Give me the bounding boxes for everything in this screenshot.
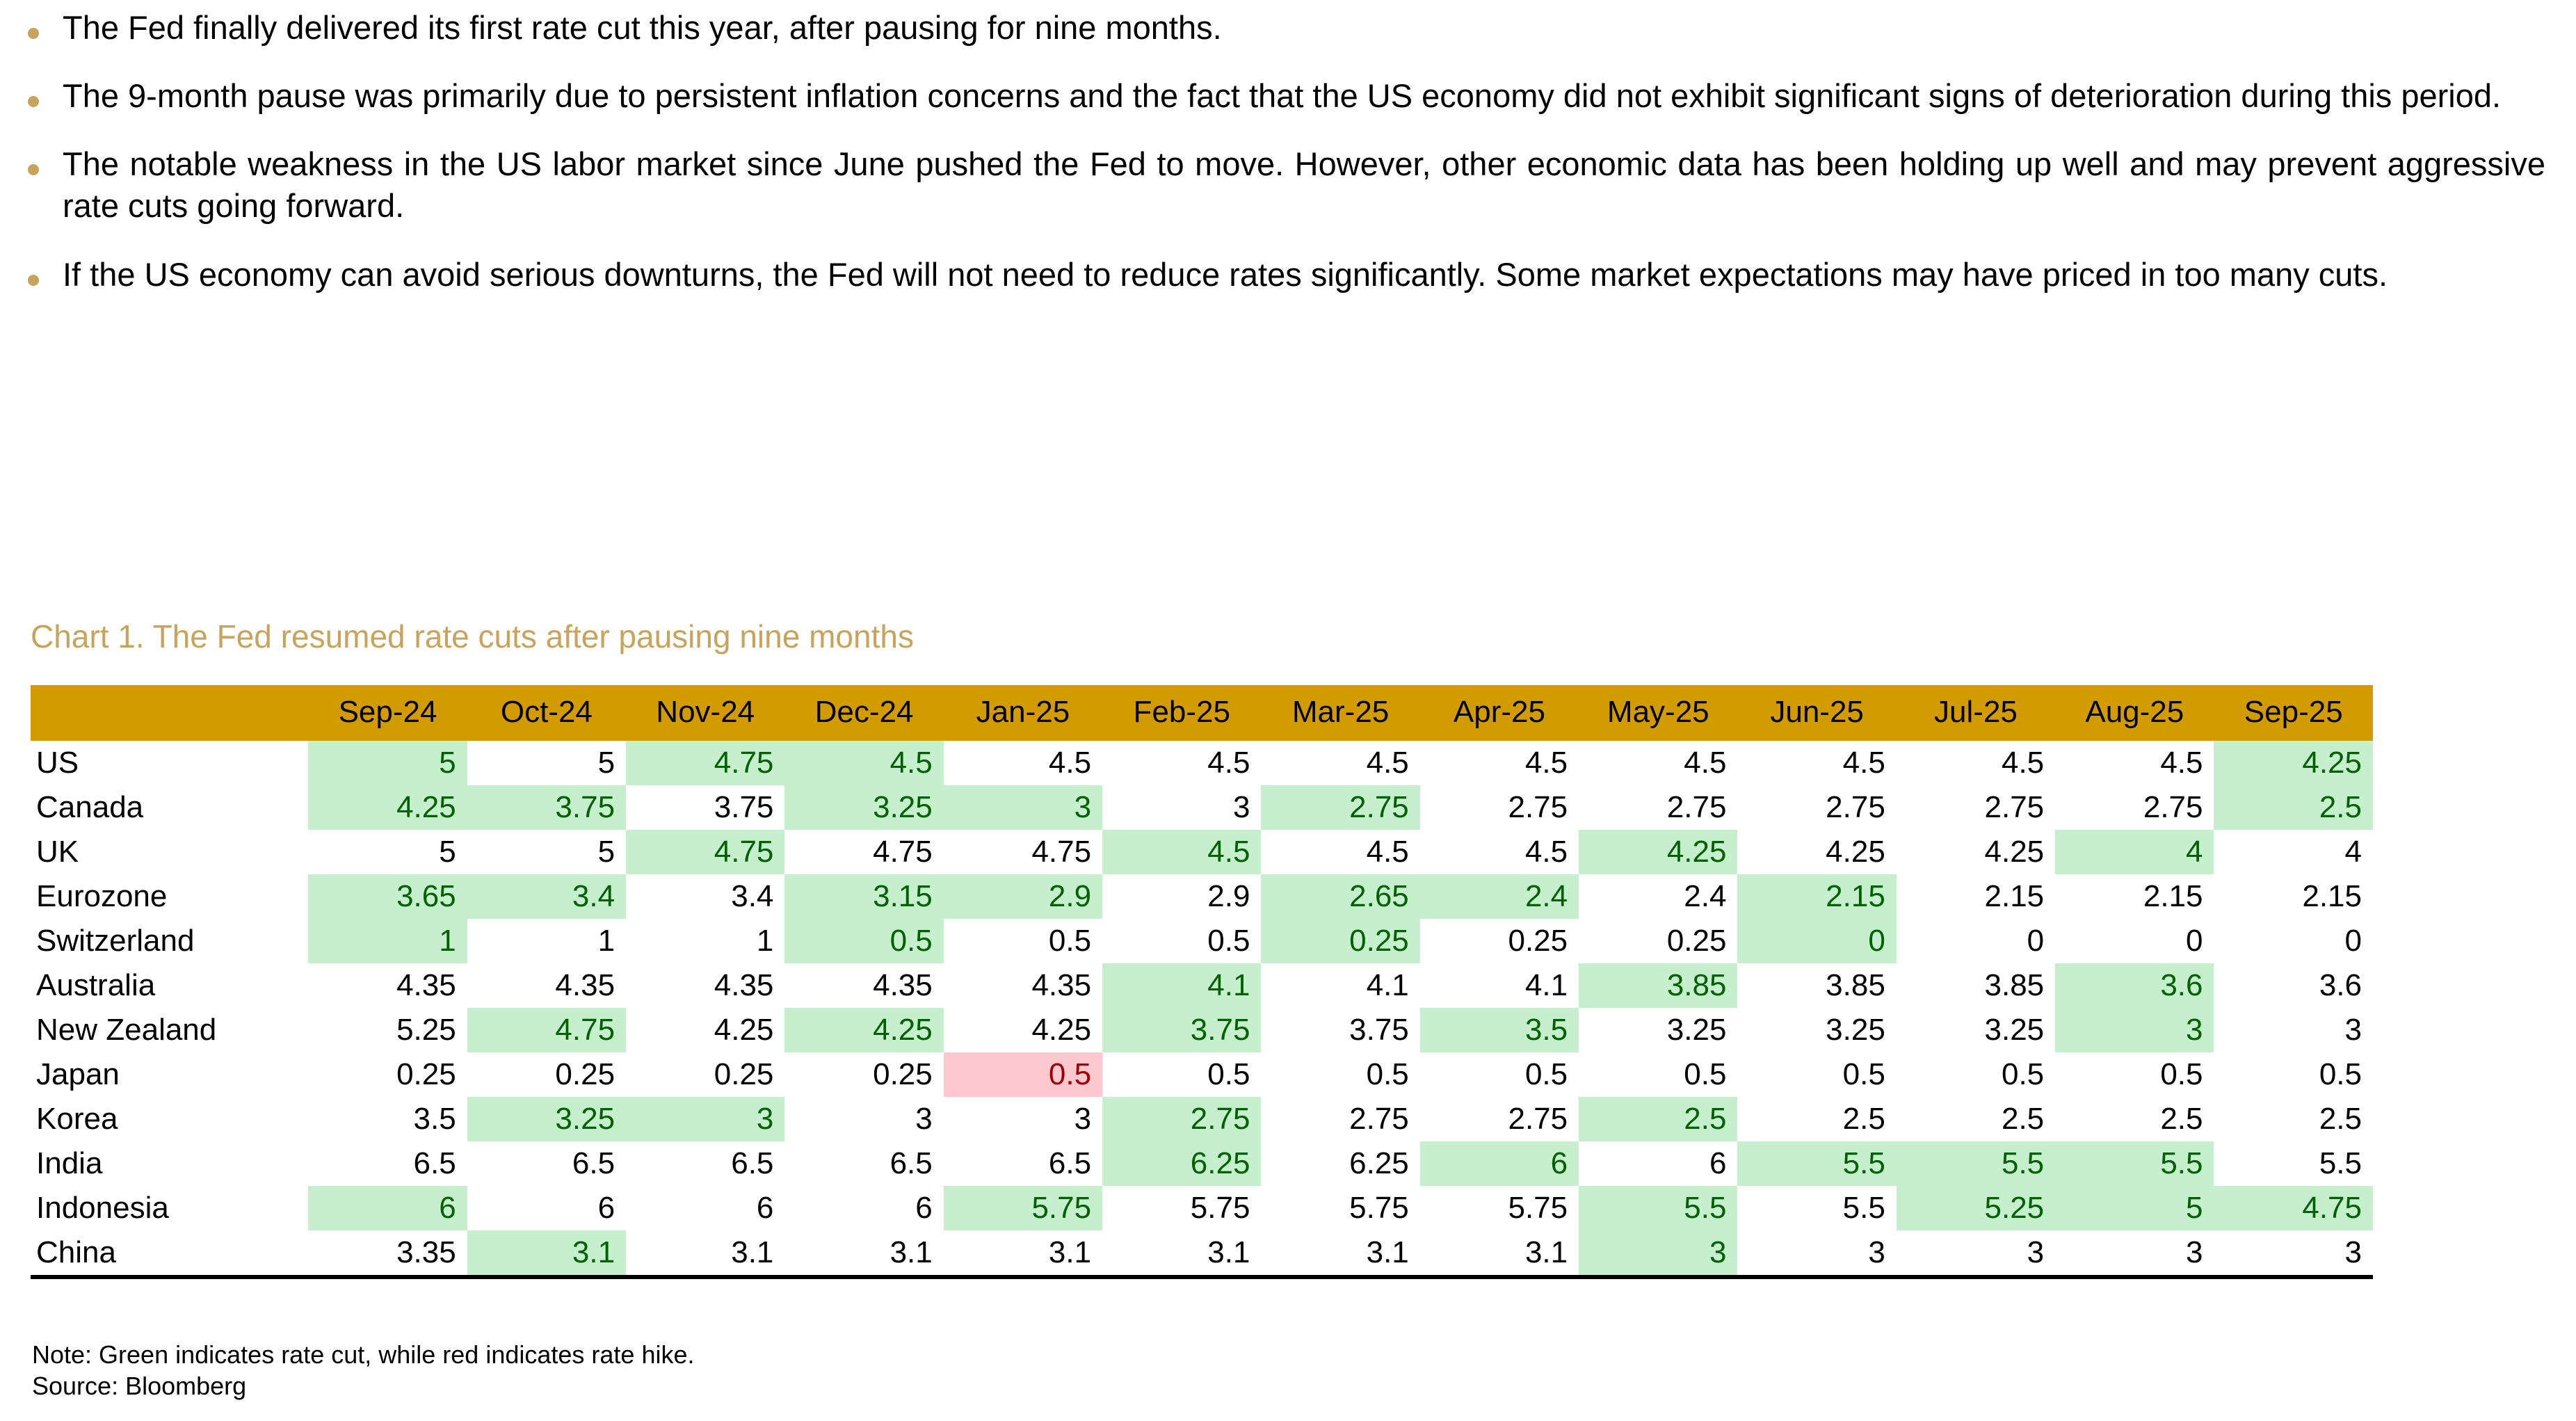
bullet-text-3: The notable weakness in the US labor mar… xyxy=(63,143,2545,227)
table-row: Korea3.53.253332.752.752.752.52.52.52.52… xyxy=(31,1097,2373,1141)
cell-eurozone-sep-25: 2.15 xyxy=(2214,874,2373,919)
cell-australia-sep-25: 3.6 xyxy=(2214,963,2373,1008)
row-label-indonesia: Indonesia xyxy=(31,1186,308,1230)
cell-us-may-25: 4.5 xyxy=(1579,741,1737,785)
cell-canada-may-25: 2.75 xyxy=(1579,785,1737,830)
cell-japan-nov-24: 0.25 xyxy=(626,1052,784,1097)
bullet-text-4: If the US economy can avoid serious down… xyxy=(63,254,2545,296)
cell-eurozone-jul-25: 2.15 xyxy=(1897,874,2055,919)
cell-canada-jun-25: 2.75 xyxy=(1737,785,1896,830)
cell-china-apr-25: 3.1 xyxy=(1420,1230,1579,1277)
column-header-row-label xyxy=(31,685,308,741)
cell-switzerland-jun-25: 0 xyxy=(1737,919,1896,963)
table-row: India6.56.56.56.56.56.256.25665.55.55.55… xyxy=(31,1141,2373,1186)
bullet-dot-icon xyxy=(28,28,39,39)
column-header-oct-24: Oct-24 xyxy=(467,685,626,741)
cell-canada-feb-25: 3 xyxy=(1102,785,1261,830)
cell-new-zealand-sep-24: 5.25 xyxy=(308,1008,467,1052)
cell-us-oct-24: 5 xyxy=(467,741,626,785)
footnotes: Note: Green indicates rate cut, while re… xyxy=(32,1339,695,1402)
cell-us-apr-25: 4.5 xyxy=(1420,741,1579,785)
cell-india-sep-25: 5.5 xyxy=(2214,1141,2373,1186)
row-label-china: China xyxy=(31,1230,308,1277)
cell-switzerland-feb-25: 0.5 xyxy=(1102,919,1261,963)
table-row: US554.754.54.54.54.54.54.54.54.54.54.25 xyxy=(31,741,2373,785)
cell-australia-feb-25: 4.1 xyxy=(1102,963,1261,1008)
cell-indonesia-jul-25: 5.25 xyxy=(1897,1186,2055,1230)
cell-new-zealand-jul-25: 3.25 xyxy=(1897,1008,2055,1052)
cell-new-zealand-jan-25: 4.25 xyxy=(944,1008,1102,1052)
cell-uk-sep-24: 5 xyxy=(308,830,467,874)
cell-japan-dec-24: 0.25 xyxy=(784,1052,943,1097)
cell-new-zealand-sep-25: 3 xyxy=(2214,1008,2373,1052)
column-header-jul-25: Jul-25 xyxy=(1897,685,2055,741)
cell-japan-may-25: 0.5 xyxy=(1579,1052,1737,1097)
cell-india-jan-25: 6.5 xyxy=(944,1141,1102,1186)
bullet-list: The Fed finally delivered its first rate… xyxy=(28,7,2545,322)
cell-china-may-25: 3 xyxy=(1579,1230,1737,1277)
row-label-japan: Japan xyxy=(31,1052,308,1097)
cell-indonesia-jun-25: 5.5 xyxy=(1737,1186,1896,1230)
row-label-uk: UK xyxy=(31,830,308,874)
table-row: Australia4.354.354.354.354.354.14.14.13.… xyxy=(31,963,2373,1008)
cell-korea-jun-25: 2.5 xyxy=(1737,1097,1896,1141)
cell-us-jul-25: 4.5 xyxy=(1897,741,2055,785)
cell-indonesia-feb-25: 5.75 xyxy=(1102,1186,1261,1230)
column-header-dec-24: Dec-24 xyxy=(784,685,943,741)
column-header-apr-25: Apr-25 xyxy=(1420,685,1579,741)
cell-uk-oct-24: 5 xyxy=(467,830,626,874)
cell-new-zealand-mar-25: 3.75 xyxy=(1261,1008,1419,1052)
cell-eurozone-feb-25: 2.9 xyxy=(1102,874,1261,919)
cell-new-zealand-nov-24: 4.25 xyxy=(626,1008,784,1052)
cell-japan-sep-25: 0.5 xyxy=(2214,1052,2373,1097)
cell-india-jun-25: 5.5 xyxy=(1737,1141,1896,1186)
cell-switzerland-nov-24: 1 xyxy=(626,919,784,963)
cell-eurozone-oct-24: 3.4 xyxy=(467,874,626,919)
cell-eurozone-nov-24: 3.4 xyxy=(626,874,784,919)
table-row: Indonesia66665.755.755.755.755.55.55.255… xyxy=(31,1186,2373,1230)
cell-japan-aug-25: 0.5 xyxy=(2055,1052,2214,1097)
table-row: Canada4.253.753.753.25332.752.752.752.75… xyxy=(31,785,2373,830)
row-label-korea: Korea xyxy=(31,1097,308,1141)
cell-us-dec-24: 4.5 xyxy=(784,741,943,785)
cell-korea-jan-25: 3 xyxy=(944,1097,1102,1141)
row-label-switzerland: Switzerland xyxy=(31,919,308,963)
column-header-aug-25: Aug-25 xyxy=(2055,685,2214,741)
cell-switzerland-jul-25: 0 xyxy=(1897,919,2055,963)
cell-eurozone-mar-25: 2.65 xyxy=(1261,874,1419,919)
cell-us-mar-25: 4.5 xyxy=(1261,741,1419,785)
cell-canada-apr-25: 2.75 xyxy=(1420,785,1579,830)
bullet-dot-icon xyxy=(28,96,39,107)
cell-eurozone-apr-25: 2.4 xyxy=(1420,874,1579,919)
bullet-dot-icon xyxy=(28,164,39,175)
row-label-canada: Canada xyxy=(31,785,308,830)
bullet-item: The 9-month pause was primarily due to p… xyxy=(28,75,2545,117)
cell-australia-aug-25: 3.6 xyxy=(2055,963,2214,1008)
cell-us-sep-24: 5 xyxy=(308,741,467,785)
bullet-item: The Fed finally delivered its first rate… xyxy=(28,7,2545,49)
column-header-sep-24: Sep-24 xyxy=(308,685,467,741)
rates-table: Sep-24Oct-24Nov-24Dec-24Jan-25Feb-25Mar-… xyxy=(31,685,2373,1279)
cell-switzerland-may-25: 0.25 xyxy=(1579,919,1737,963)
cell-new-zealand-oct-24: 4.75 xyxy=(467,1008,626,1052)
table-body: US554.754.54.54.54.54.54.54.54.54.54.25C… xyxy=(31,741,2373,1277)
cell-australia-jul-25: 3.85 xyxy=(1897,963,2055,1008)
cell-japan-apr-25: 0.5 xyxy=(1420,1052,1579,1097)
cell-japan-mar-25: 0.5 xyxy=(1261,1052,1419,1097)
cell-india-apr-25: 6 xyxy=(1420,1141,1579,1186)
cell-canada-sep-24: 4.25 xyxy=(308,785,467,830)
cell-indonesia-nov-24: 6 xyxy=(626,1186,784,1230)
column-header-nov-24: Nov-24 xyxy=(626,685,784,741)
cell-korea-nov-24: 3 xyxy=(626,1097,784,1141)
note-text: Note: Green indicates rate cut, while re… xyxy=(32,1339,695,1370)
cell-china-feb-25: 3.1 xyxy=(1102,1230,1261,1277)
table-row: China3.353.13.13.13.13.13.13.133333 xyxy=(31,1230,2373,1277)
cell-korea-sep-25: 2.5 xyxy=(2214,1097,2373,1141)
cell-uk-dec-24: 4.75 xyxy=(784,830,943,874)
cell-canada-jul-25: 2.75 xyxy=(1897,785,2055,830)
cell-australia-dec-24: 4.35 xyxy=(784,963,943,1008)
cell-china-nov-24: 3.1 xyxy=(626,1230,784,1277)
bullet-text-2: The 9-month pause was primarily due to p… xyxy=(63,75,2545,117)
cell-canada-oct-24: 3.75 xyxy=(467,785,626,830)
cell-switzerland-apr-25: 0.25 xyxy=(1420,919,1579,963)
cell-india-sep-24: 6.5 xyxy=(308,1141,467,1186)
table-row: New Zealand5.254.754.254.254.253.753.753… xyxy=(31,1008,2373,1052)
cell-new-zealand-dec-24: 4.25 xyxy=(784,1008,943,1052)
cell-uk-may-25: 4.25 xyxy=(1579,830,1737,874)
cell-korea-mar-25: 2.75 xyxy=(1261,1097,1419,1141)
cell-australia-nov-24: 4.35 xyxy=(626,963,784,1008)
cell-korea-aug-25: 2.5 xyxy=(2055,1097,2214,1141)
cell-japan-jun-25: 0.5 xyxy=(1737,1052,1896,1097)
cell-indonesia-oct-24: 6 xyxy=(467,1186,626,1230)
cell-uk-sep-25: 4 xyxy=(2214,830,2373,874)
cell-australia-sep-24: 4.35 xyxy=(308,963,467,1008)
cell-india-nov-24: 6.5 xyxy=(626,1141,784,1186)
cell-australia-mar-25: 4.1 xyxy=(1261,963,1419,1008)
cell-japan-oct-24: 0.25 xyxy=(467,1052,626,1097)
cell-japan-jul-25: 0.5 xyxy=(1897,1052,2055,1097)
cell-canada-aug-25: 2.75 xyxy=(2055,785,2214,830)
cell-japan-sep-24: 0.25 xyxy=(308,1052,467,1097)
cell-china-jan-25: 3.1 xyxy=(944,1230,1102,1277)
column-header-jan-25: Jan-25 xyxy=(944,685,1102,741)
cell-korea-apr-25: 2.75 xyxy=(1420,1097,1579,1141)
cell-india-oct-24: 6.5 xyxy=(467,1141,626,1186)
cell-new-zealand-may-25: 3.25 xyxy=(1579,1008,1737,1052)
column-header-feb-25: Feb-25 xyxy=(1102,685,1261,741)
cell-indonesia-aug-25: 5 xyxy=(2055,1186,2214,1230)
cell-uk-jan-25: 4.75 xyxy=(944,830,1102,874)
cell-india-aug-25: 5.5 xyxy=(2055,1141,2214,1186)
source-text: Source: Bloomberg xyxy=(32,1370,695,1402)
cell-uk-mar-25: 4.5 xyxy=(1261,830,1419,874)
row-label-eurozone: Eurozone xyxy=(31,874,308,919)
cell-eurozone-aug-25: 2.15 xyxy=(2055,874,2214,919)
cell-eurozone-jan-25: 2.9 xyxy=(944,874,1102,919)
cell-new-zealand-aug-25: 3 xyxy=(2055,1008,2214,1052)
cell-korea-may-25: 2.5 xyxy=(1579,1097,1737,1141)
cell-australia-apr-25: 4.1 xyxy=(1420,963,1579,1008)
cell-canada-sep-25: 2.5 xyxy=(2214,785,2373,830)
cell-indonesia-sep-25: 4.75 xyxy=(2214,1186,2373,1230)
cell-australia-jun-25: 3.85 xyxy=(1737,963,1896,1008)
cell-switzerland-oct-24: 1 xyxy=(467,919,626,963)
table-row: Japan0.250.250.250.250.50.50.50.50.50.50… xyxy=(31,1052,2373,1097)
cell-canada-dec-24: 3.25 xyxy=(784,785,943,830)
row-label-new-zealand: New Zealand xyxy=(31,1008,308,1052)
slide-page: The Fed finally delivered its first rate… xyxy=(0,0,2576,1421)
cell-new-zealand-apr-25: 3.5 xyxy=(1420,1008,1579,1052)
cell-uk-nov-24: 4.75 xyxy=(626,830,784,874)
rates-table-container: Sep-24Oct-24Nov-24Dec-24Jan-25Feb-25Mar-… xyxy=(31,685,2373,1279)
cell-uk-apr-25: 4.5 xyxy=(1420,830,1579,874)
cell-eurozone-jun-25: 2.15 xyxy=(1737,874,1896,919)
cell-china-aug-25: 3 xyxy=(2055,1230,2214,1277)
cell-us-jan-25: 4.5 xyxy=(944,741,1102,785)
cell-korea-oct-24: 3.25 xyxy=(467,1097,626,1141)
cell-indonesia-may-25: 5.5 xyxy=(1579,1186,1737,1230)
cell-china-sep-24: 3.35 xyxy=(308,1230,467,1277)
cell-uk-jun-25: 4.25 xyxy=(1737,830,1896,874)
cell-indonesia-apr-25: 5.75 xyxy=(1420,1186,1579,1230)
table-header: Sep-24Oct-24Nov-24Dec-24Jan-25Feb-25Mar-… xyxy=(31,685,2373,741)
row-label-us: US xyxy=(31,741,308,785)
row-label-india: India xyxy=(31,1141,308,1186)
cell-australia-jan-25: 4.35 xyxy=(944,963,1102,1008)
cell-us-nov-24: 4.75 xyxy=(626,741,784,785)
chart-title: Chart 1. The Fed resumed rate cuts after… xyxy=(31,618,914,655)
cell-switzerland-aug-25: 0 xyxy=(2055,919,2214,963)
column-header-may-25: May-25 xyxy=(1579,685,1737,741)
bullet-text-1: The Fed finally delivered its first rate… xyxy=(63,7,2545,49)
cell-switzerland-jan-25: 0.5 xyxy=(944,919,1102,963)
table-header-row: Sep-24Oct-24Nov-24Dec-24Jan-25Feb-25Mar-… xyxy=(31,685,2373,741)
cell-korea-feb-25: 2.75 xyxy=(1102,1097,1261,1141)
cell-japan-jan-25: 0.5 xyxy=(944,1052,1102,1097)
table-row: Eurozone3.653.43.43.152.92.92.652.42.42.… xyxy=(31,874,2373,919)
row-label-australia: Australia xyxy=(31,963,308,1008)
cell-eurozone-sep-24: 3.65 xyxy=(308,874,467,919)
cell-india-mar-25: 6.25 xyxy=(1261,1141,1419,1186)
column-header-mar-25: Mar-25 xyxy=(1261,685,1419,741)
cell-china-jul-25: 3 xyxy=(1897,1230,2055,1277)
cell-china-oct-24: 3.1 xyxy=(467,1230,626,1277)
cell-india-feb-25: 6.25 xyxy=(1102,1141,1261,1186)
bullet-item: The notable weakness in the US labor mar… xyxy=(28,143,2545,227)
cell-indonesia-sep-24: 6 xyxy=(308,1186,467,1230)
cell-canada-jan-25: 3 xyxy=(944,785,1102,830)
bullet-dot-icon xyxy=(28,275,39,286)
cell-eurozone-dec-24: 3.15 xyxy=(784,874,943,919)
column-header-jun-25: Jun-25 xyxy=(1737,685,1896,741)
cell-indonesia-dec-24: 6 xyxy=(784,1186,943,1230)
cell-us-feb-25: 4.5 xyxy=(1102,741,1261,785)
cell-korea-dec-24: 3 xyxy=(784,1097,943,1141)
cell-switzerland-mar-25: 0.25 xyxy=(1261,919,1419,963)
cell-us-jun-25: 4.5 xyxy=(1737,741,1896,785)
cell-indonesia-jan-25: 5.75 xyxy=(944,1186,1102,1230)
cell-indonesia-mar-25: 5.75 xyxy=(1261,1186,1419,1230)
cell-canada-mar-25: 2.75 xyxy=(1261,785,1419,830)
cell-korea-sep-24: 3.5 xyxy=(308,1097,467,1141)
table-row: Switzerland1110.50.50.50.250.250.250000 xyxy=(31,919,2373,963)
bullet-item: If the US economy can avoid serious down… xyxy=(28,254,2545,296)
cell-india-dec-24: 6.5 xyxy=(784,1141,943,1186)
cell-switzerland-sep-25: 0 xyxy=(2214,919,2373,963)
cell-uk-jul-25: 4.25 xyxy=(1897,830,2055,874)
cell-uk-aug-25: 4 xyxy=(2055,830,2214,874)
cell-australia-oct-24: 4.35 xyxy=(467,963,626,1008)
column-header-sep-25: Sep-25 xyxy=(2214,685,2373,741)
cell-switzerland-sep-24: 1 xyxy=(308,919,467,963)
cell-us-aug-25: 4.5 xyxy=(2055,741,2214,785)
cell-china-sep-25: 3 xyxy=(2214,1230,2373,1277)
cell-korea-jul-25: 2.5 xyxy=(1897,1097,2055,1141)
cell-switzerland-dec-24: 0.5 xyxy=(784,919,943,963)
cell-china-dec-24: 3.1 xyxy=(784,1230,943,1277)
cell-new-zealand-jun-25: 3.25 xyxy=(1737,1008,1896,1052)
cell-china-mar-25: 3.1 xyxy=(1261,1230,1419,1277)
cell-india-may-25: 6 xyxy=(1579,1141,1737,1186)
cell-canada-nov-24: 3.75 xyxy=(626,785,784,830)
cell-china-jun-25: 3 xyxy=(1737,1230,1896,1277)
cell-japan-feb-25: 0.5 xyxy=(1102,1052,1261,1097)
cell-india-jul-25: 5.5 xyxy=(1897,1141,2055,1186)
cell-us-sep-25: 4.25 xyxy=(2214,741,2373,785)
cell-eurozone-may-25: 2.4 xyxy=(1579,874,1737,919)
cell-australia-may-25: 3.85 xyxy=(1579,963,1737,1008)
cell-uk-feb-25: 4.5 xyxy=(1102,830,1261,874)
cell-new-zealand-feb-25: 3.75 xyxy=(1102,1008,1261,1052)
table-row: UK554.754.754.754.54.54.54.254.254.2544 xyxy=(31,830,2373,874)
